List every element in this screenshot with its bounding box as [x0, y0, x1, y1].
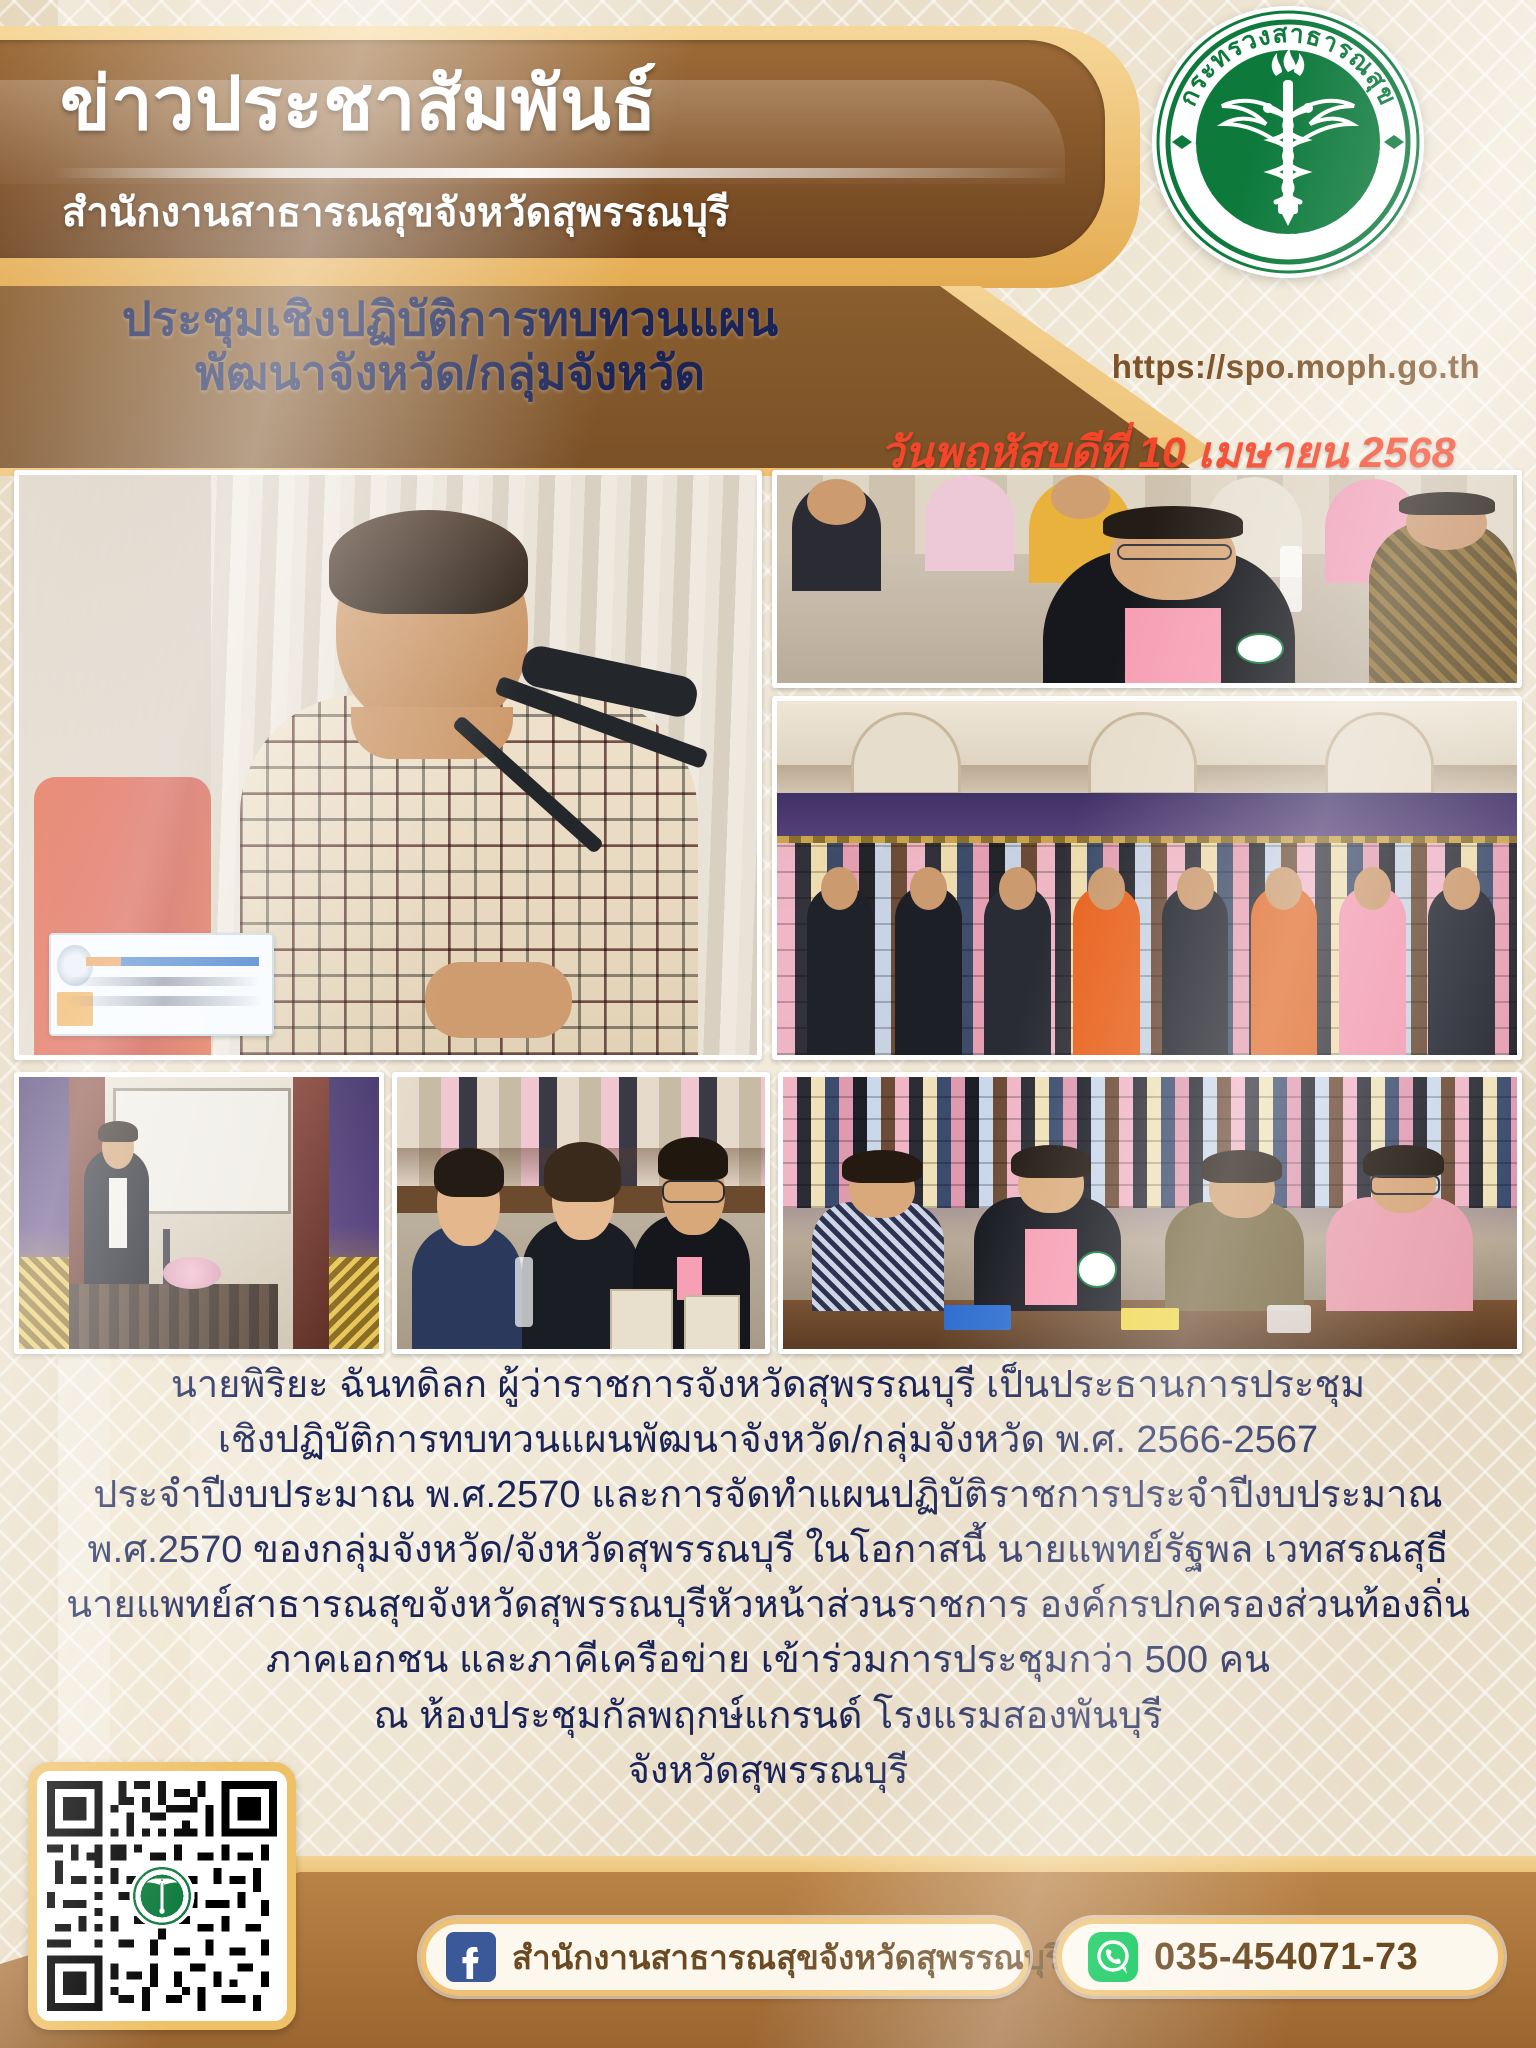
line-chat-icon [1086, 1930, 1140, 1984]
body-line-2: เชิงปฏิบัติการทบทวนแผนพัฒนาจังหวัด/กลุ่ม… [0, 1413, 1536, 1468]
website-url[interactable]: https://spo.moph.go.th [1096, 348, 1496, 386]
body-paragraph: นายพิริยะ ฉันทดิลก ผู้ว่าราชการจังหวัดสุ… [0, 1358, 1536, 1799]
facebook-icon [444, 1930, 498, 1984]
photo-seated-officials-row [778, 1072, 1522, 1354]
body-line-5: นายแพทย์สาธารณสุขจังหวัดสุพรรณบุรีหัวหน้… [0, 1578, 1536, 1633]
facebook-link[interactable]: สำนักงานสาธารณสุขจังหวัดสุพรรณบุรี [420, 1918, 1030, 1996]
photo-collage-top [14, 470, 1522, 1066]
facebook-page-name: สำนักงานสาธารณสุขจังหวัดสุพรรณบุรี [512, 1931, 1063, 1984]
qr-code[interactable] [28, 1762, 296, 2030]
body-line-6: ภาคเอกชน และภาคีเครือข่าย เข้าร่วมการประ… [0, 1633, 1536, 1688]
photo-collage-bottom [14, 1072, 1522, 1354]
headline-line-1: ประชุมเชิงปฏิบัติการทบทวนแผน [0, 292, 900, 346]
photo-audience-standing-wide [772, 696, 1522, 1060]
body-line-3: ประจำปีงบประมาณ พ.ศ.2570 และการจัดทำแผนป… [0, 1468, 1536, 1523]
headline-title: ประชุมเชิงปฏิบัติการทบทวนแผน พัฒนาจังหวั… [0, 292, 900, 399]
header-title: ข่าวประชาสัมพันธ์ [60, 44, 1060, 162]
phone-contact[interactable]: 035-454071-73 [1056, 1918, 1504, 1996]
body-line-1: นายพิริยะ ฉันทดิลก ผู้ว่าราชการจังหวัดสุ… [0, 1358, 1536, 1413]
announcement-poster: ข่าวประชาสัมพันธ์ สำนักงานสาธารณสุขจังหว… [0, 0, 1536, 2048]
photo-health-officer-in-audience [772, 470, 1522, 688]
header-divider [52, 168, 1072, 178]
photo-participants-smiling [392, 1072, 770, 1354]
body-line-4: พ.ศ.2570 ของกลุ่มจังหวัด/จังหวัดสุพรรณบุ… [0, 1523, 1536, 1578]
phone-number: 035-454071-73 [1154, 1936, 1418, 1979]
photo-speaker-on-stage [14, 1072, 384, 1354]
headline-line-2: พัฒนาจังหวัด/กลุ่มจังหวัด [0, 346, 900, 400]
ministry-seal-logo: กระทรวงสาธารณสุข MINISTRY OF PUBLIC HEAL… [1152, 6, 1424, 278]
photo-governor-at-microphone [14, 470, 762, 1060]
body-line-7: ณ ห้องประชุมกัลพฤกษ์แกรนด์ โรงแรมสองพันบ… [0, 1689, 1536, 1744]
header-subtitle: สำนักงานสาธารณสุขจังหวัดสุพรรณบุรี [62, 180, 1082, 244]
